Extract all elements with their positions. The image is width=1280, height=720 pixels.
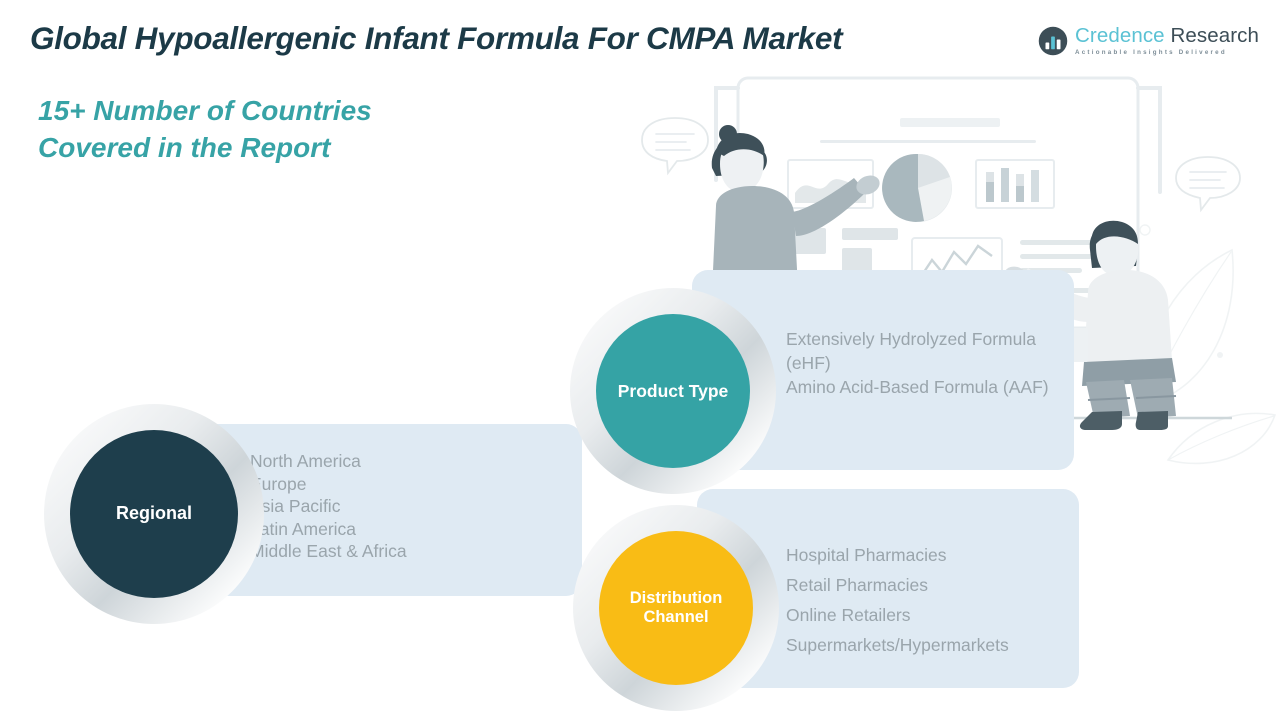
list-product-type: Extensively Hydrolyzed Formula (eHF) Ami… xyxy=(786,327,1076,399)
list-item: Extensively Hydrolyzed Formula (eHF) xyxy=(786,327,1076,375)
list-item: Middle East & Africa xyxy=(250,540,407,563)
node-product-type[interactable]: Product Type xyxy=(570,288,776,494)
list-item: Online Retailers xyxy=(786,600,1009,630)
page-title: Global Hypoallergenic Infant Formula For… xyxy=(30,20,842,57)
list-distribution-channel: Hospital Pharmacies Retail Pharmacies On… xyxy=(786,540,1009,660)
bar-chart-icon xyxy=(986,168,1039,202)
area-chart-icon xyxy=(795,179,866,203)
speech-bubble-icon xyxy=(642,118,1240,210)
infographic-slide: Global Hypoallergenic Infant Formula For… xyxy=(0,0,1280,720)
list-regional: North America Europe Asia Pacific Latin … xyxy=(250,450,407,563)
list-item: Supermarkets/Hypermarkets xyxy=(786,630,1009,660)
list-item: Hospital Pharmacies xyxy=(786,540,1009,570)
bar-chart-circle-icon xyxy=(1038,26,1068,56)
list-item: Retail Pharmacies xyxy=(786,570,1009,600)
node-distribution-channel-label: Distribution Channel xyxy=(599,531,753,685)
pie-chart-icon xyxy=(882,154,952,222)
list-item: Europe xyxy=(250,473,407,496)
list-item: Amino Acid-Based Formula (AAF) xyxy=(786,375,1076,399)
list-item: Latin America xyxy=(250,518,407,541)
node-product-type-label: Product Type xyxy=(596,314,750,468)
logo-name-secondary: Research xyxy=(1170,24,1259,47)
page-subtitle: 15+ Number of Countries Covered in the R… xyxy=(38,92,372,166)
logo-tagline: Actionable Insights Delivered xyxy=(1075,50,1259,56)
list-item: North America xyxy=(250,450,407,473)
brand-logo: Credence Research Actionable Insights De… xyxy=(1038,26,1259,56)
node-regional[interactable]: Regional xyxy=(44,404,264,624)
node-regional-label: Regional xyxy=(70,430,238,598)
list-item: Asia Pacific xyxy=(250,495,407,518)
logo-name-primary: Credence xyxy=(1075,24,1165,47)
node-distribution-channel[interactable]: Distribution Channel xyxy=(573,505,779,711)
